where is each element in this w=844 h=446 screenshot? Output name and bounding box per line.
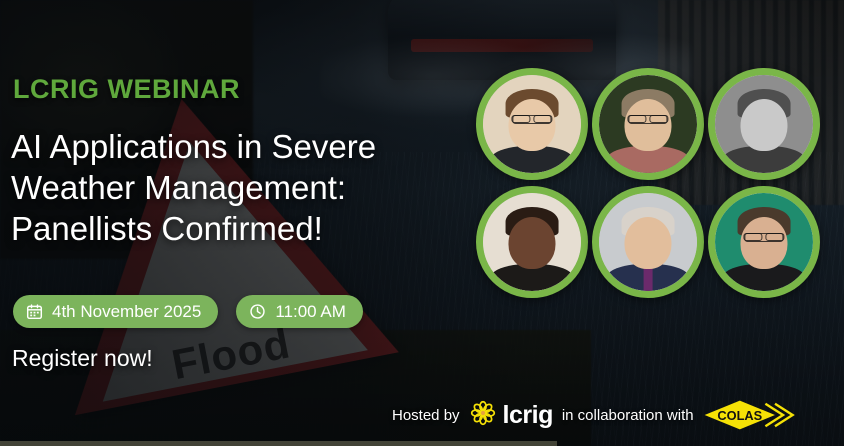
register-cta[interactable]: Register now! — [12, 345, 153, 372]
portrait-top-right — [715, 75, 813, 173]
headline-line-2: Weather Management: — [11, 167, 471, 208]
avatar — [476, 186, 588, 298]
avatar — [476, 68, 588, 180]
time-text: 11:00 AM — [275, 302, 346, 322]
calendar-icon — [26, 303, 43, 320]
page-title: AI Applications in Severe Weather Manage… — [11, 126, 471, 249]
portrait-bottom-right — [715, 193, 813, 291]
promo-text-block: LCRIG WEBINAR AI Applications in Severe … — [0, 0, 470, 446]
panellist-avatar — [588, 64, 708, 184]
lcrig-logo: lcrig — [469, 399, 553, 432]
panellist-avatar — [704, 64, 824, 184]
headline-line-1: AI Applications in Severe — [11, 126, 471, 167]
portrait-top-left — [483, 75, 581, 173]
avatar — [708, 68, 820, 180]
event-details: 4th November 2025 11:00 AM — [13, 295, 363, 328]
colas-logo: COLAS — [703, 398, 799, 432]
colas-wordmark: COLAS — [717, 408, 762, 423]
panellist-avatar — [704, 182, 824, 302]
collaboration-label: in collaboration with — [562, 407, 694, 424]
portrait-bottom-center — [599, 193, 697, 291]
panellist-avatar — [472, 64, 592, 184]
eyebrow-label: LCRIG WEBINAR — [13, 74, 240, 105]
time-badge: 11:00 AM — [236, 295, 363, 328]
hosted-by-label: Hosted by — [392, 407, 460, 424]
panellist-avatar — [472, 182, 592, 302]
avatar — [708, 186, 820, 298]
flower-icon — [469, 399, 497, 432]
panellist-avatar — [588, 182, 708, 302]
webinar-promo-graphic: Flood LCRIG WEBINAR AI Applications in S… — [0, 0, 844, 446]
headline-line-3: Panellists Confirmed! — [11, 208, 471, 249]
clock-icon — [249, 303, 266, 320]
footer-branding: Hosted by lcrig — [392, 398, 799, 432]
panellist-photos — [472, 64, 820, 300]
date-badge: 4th November 2025 — [13, 295, 218, 328]
lcrig-wordmark: lcrig — [503, 403, 553, 428]
portrait-top-center — [599, 75, 697, 173]
avatar — [592, 186, 704, 298]
portrait-bottom-left — [483, 193, 581, 291]
date-text: 4th November 2025 — [52, 302, 201, 322]
avatar — [592, 68, 704, 180]
